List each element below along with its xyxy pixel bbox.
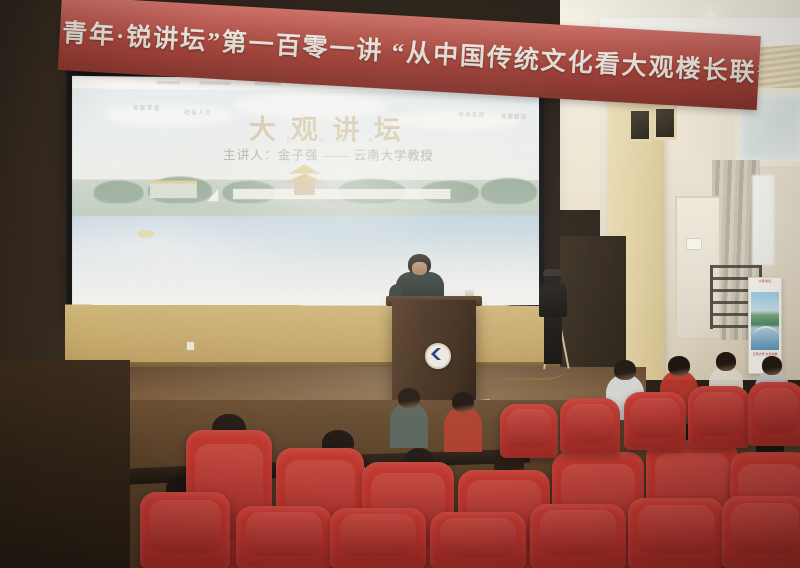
- door-sign: [686, 238, 702, 250]
- rollup-bridge-shape: [753, 326, 779, 337]
- auditorium-seat[interactable]: [624, 392, 686, 450]
- pavilion-roof-upper: [284, 164, 326, 173]
- auditorium-seat[interactable]: [628, 498, 724, 568]
- audience-person: [398, 388, 420, 448]
- auditorium-seat[interactable]: [722, 496, 800, 568]
- daylight-window: [752, 175, 774, 265]
- audience-left-shadow: [0, 360, 130, 568]
- slide-toolbar-item: [199, 81, 231, 84]
- videographer-body: [539, 283, 567, 317]
- floor-cable: [508, 356, 566, 380]
- slide-lake-glare: [72, 216, 334, 310]
- auditorium-seat[interactable]: [500, 404, 558, 458]
- projection-screen-frame: 名家学者 社会人文 听众互动 观察解读 大观讲坛 D A G U A N 主讲人…: [67, 71, 544, 316]
- audience-person: [452, 392, 474, 452]
- rollup-top-text: 大观讲坛: [749, 278, 781, 292]
- auditorium-seat[interactable]: [560, 398, 620, 454]
- auditorium-seat[interactable]: [430, 512, 526, 568]
- slide-pinyin: D A G U A N: [233, 137, 430, 144]
- projection-screen: 名家学者 社会人文 听众互动 观察解读 大观讲坛 D A G U A N 主讲人…: [72, 76, 539, 310]
- audience-person-head: [762, 356, 782, 375]
- slide-side-text-left-2: 社会人文: [184, 110, 212, 117]
- auditorium-seat[interactable]: [530, 504, 626, 568]
- audience-person-head: [452, 392, 474, 412]
- slide-subtitle: 主讲人：金子强 —— 云南大学教授: [171, 145, 483, 163]
- auditorium-seat[interactable]: [236, 506, 332, 568]
- slide-tree: [94, 180, 144, 203]
- wall-outlet: [186, 341, 195, 351]
- slide-fineprint: 云南大学 大观讲坛 传承中华优秀传统文化: [327, 199, 423, 205]
- slide-boat: [137, 230, 154, 237]
- slide-side-text-right-2: 观察解读: [501, 115, 527, 122]
- videographer-cap: [543, 269, 563, 276]
- slide-lakeside-wall: [233, 189, 450, 199]
- slide-bridge: [150, 181, 197, 199]
- pavilion-body: [294, 182, 315, 195]
- audience-person-head: [398, 388, 420, 408]
- audience-person-head: [716, 352, 736, 371]
- auditorium-seat[interactable]: [688, 386, 750, 448]
- audience-person-shoulders: [390, 402, 427, 448]
- slide-tree: [481, 178, 537, 204]
- rollup-photo: [751, 292, 779, 350]
- auditorium-seat[interactable]: [748, 382, 800, 446]
- wall-speaker-left: [628, 108, 652, 142]
- audience-person-shoulders: [444, 406, 481, 452]
- auditorium-seat[interactable]: [140, 492, 230, 568]
- auditorium-seat[interactable]: [330, 508, 426, 568]
- audience-person-head: [668, 356, 690, 376]
- lecturer-face: [412, 262, 427, 275]
- audience-person-head: [614, 360, 636, 380]
- slide-toolbar-item: [156, 81, 180, 84]
- ceiling-downlight: [703, 9, 719, 19]
- wall-speaker-right: [653, 106, 677, 140]
- podium-emblem-icon: [425, 343, 451, 369]
- slide-pavilion: [281, 164, 327, 195]
- slide-side-text-right-1: 听众互动: [459, 112, 485, 119]
- slide-side-text-left-1: 名家学者: [133, 106, 161, 113]
- lecture-hall-photo: 大观讲坛 云南大学 文化讲堂: [0, 0, 800, 568]
